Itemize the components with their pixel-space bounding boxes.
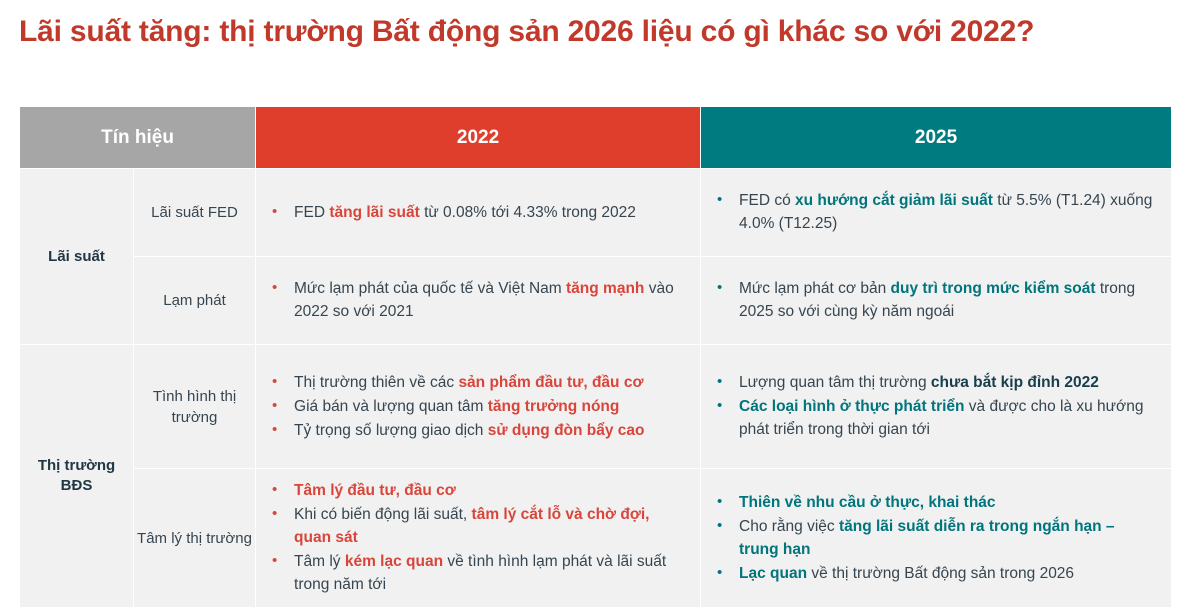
cell-2025: Mức lạm phát cơ bản duy trì trong mức ki…: [701, 257, 1172, 345]
highlight-text: Các loại hình ở thực phát triển: [739, 398, 964, 415]
highlight-text: Lạc quan: [739, 565, 807, 582]
cell-2022: Tâm lý đầu tư, đầu cơKhi có biến động lã…: [256, 469, 701, 608]
highlight-text: sử dụng đòn bẩy cao: [488, 422, 645, 439]
bullet-item: Mức lạm phát của quốc tế và Việt Nam tăn…: [264, 277, 686, 323]
bullet-item: Mức lạm phát cơ bản duy trì trong mức ki…: [709, 277, 1157, 323]
bullet-item: Các loại hình ở thực phát triển và được …: [709, 395, 1157, 441]
bullet-item: Tâm lý kém lạc quan về tình hình lạm phá…: [264, 550, 686, 596]
bullet-item: Tỷ trọng số lượng giao dịch sử dụng đòn …: [264, 419, 686, 442]
bullet-item: Lạc quan về thị trường Bất động sản tron…: [709, 562, 1157, 585]
table-row: Lãi suấtLãi suất FEDFED tăng lãi suất từ…: [20, 169, 1172, 257]
signal-label: Lạm phát: [134, 257, 256, 345]
table-row: Lạm phátMức lạm phát của quốc tế và Việt…: [20, 257, 1172, 345]
cell-2022: FED tăng lãi suất từ 0.08% tới 4.33% tro…: [256, 169, 701, 257]
bullet-item: Lượng quan tâm thị trường chưa bắt kịp đ…: [709, 371, 1157, 394]
highlight-text: xu hướng cắt giảm lãi suất: [795, 192, 993, 209]
bullet-item: Thiên về nhu cầu ở thực, khai thác: [709, 491, 1157, 514]
row-group-label-2: Thị trường BĐS: [20, 345, 134, 608]
highlight-text: tâm lý cắt lỗ và chờ đợi, quan sát: [294, 506, 649, 546]
highlight-text: tăng lãi suất diễn ra trong ngắn hạn – t…: [739, 518, 1115, 558]
bullet-list: Mức lạm phát của quốc tế và Việt Nam tăn…: [264, 277, 686, 323]
bullet-list: FED có xu hướng cắt giảm lãi suất từ 5.5…: [709, 189, 1157, 235]
cell-2025: FED có xu hướng cắt giảm lãi suất từ 5.5…: [701, 169, 1172, 257]
table-header: Tín hiệu 2022 2025: [20, 107, 1172, 169]
bullet-item: Khi có biến động lãi suất, tâm lý cắt lỗ…: [264, 503, 686, 549]
bullet-item: FED tăng lãi suất từ 0.08% tới 4.33% tro…: [264, 201, 686, 224]
row-group-label-1: Lãi suất: [20, 169, 134, 345]
bullet-list: Thiên về nhu cầu ở thực, khai thácCho rằ…: [709, 491, 1157, 585]
signal-label: Lãi suất FED: [134, 169, 256, 257]
cell-2022: Mức lạm phát của quốc tế và Việt Nam tăn…: [256, 257, 701, 345]
table-row: Tâm lý thị trườngTâm lý đầu tư, đầu cơKh…: [20, 469, 1172, 608]
comparison-table-wrapper: .com.vn Batdongsan .com.vn Batdongsan Tí…: [19, 106, 1171, 602]
bullet-item: Thị trường thiên về các sản phẩm đầu tư,…: [264, 371, 686, 394]
table-body: Lãi suấtLãi suất FEDFED tăng lãi suất từ…: [20, 169, 1172, 608]
header-row: Tín hiệu 2022 2025: [20, 107, 1172, 169]
signal-label: Tâm lý thị trường: [134, 469, 256, 608]
highlight-text: Thiên về nhu cầu ở thực, khai thác: [739, 494, 996, 511]
bullet-item: Tâm lý đầu tư, đầu cơ: [264, 479, 686, 502]
bullet-item: Cho rằng việc tăng lãi suất diễn ra tron…: [709, 515, 1157, 561]
header-2022: 2022: [256, 107, 701, 169]
cell-2022: Thị trường thiên về các sản phẩm đầu tư,…: [256, 345, 701, 469]
header-2025: 2025: [701, 107, 1172, 169]
table-row: Thị trường BĐSTình hình thị trườngThị tr…: [20, 345, 1172, 469]
highlight-text: tăng mạnh: [566, 280, 644, 297]
highlight-text: chưa bắt kịp đỉnh 2022: [931, 374, 1099, 391]
signal-label: Tình hình thị trường: [134, 345, 256, 469]
highlight-text: sản phẩm đầu tư, đầu cơ: [458, 374, 643, 391]
page-title: Lãi suất tăng: thị trường Bất động sản 2…: [19, 10, 1171, 54]
bullet-list: Lượng quan tâm thị trường chưa bắt kịp đ…: [709, 371, 1157, 441]
header-signal: Tín hiệu: [20, 107, 256, 169]
cell-2025: Thiên về nhu cầu ở thực, khai thácCho rằ…: [701, 469, 1172, 608]
highlight-text: duy trì trong mức kiểm soát: [891, 280, 1096, 297]
bullet-list: Tâm lý đầu tư, đầu cơKhi có biến động lã…: [264, 479, 686, 596]
highlight-text: Tâm lý đầu tư, đầu cơ: [294, 482, 456, 499]
bullet-item: Giá bán và lượng quan tâm tăng trưởng nó…: [264, 395, 686, 418]
comparison-table: Tín hiệu 2022 2025 Lãi suấtLãi suất FEDF…: [19, 106, 1172, 608]
highlight-text: tăng lãi suất: [329, 204, 419, 221]
highlight-text: kém lạc quan: [345, 553, 443, 570]
bullet-list: Mức lạm phát cơ bản duy trì trong mức ki…: [709, 277, 1157, 323]
bullet-list: FED tăng lãi suất từ 0.08% tới 4.33% tro…: [264, 201, 686, 224]
bullet-list: Thị trường thiên về các sản phẩm đầu tư,…: [264, 371, 686, 442]
bullet-item: FED có xu hướng cắt giảm lãi suất từ 5.5…: [709, 189, 1157, 235]
highlight-text: tăng trưởng nóng: [488, 398, 620, 415]
cell-2025: Lượng quan tâm thị trường chưa bắt kịp đ…: [701, 345, 1172, 469]
